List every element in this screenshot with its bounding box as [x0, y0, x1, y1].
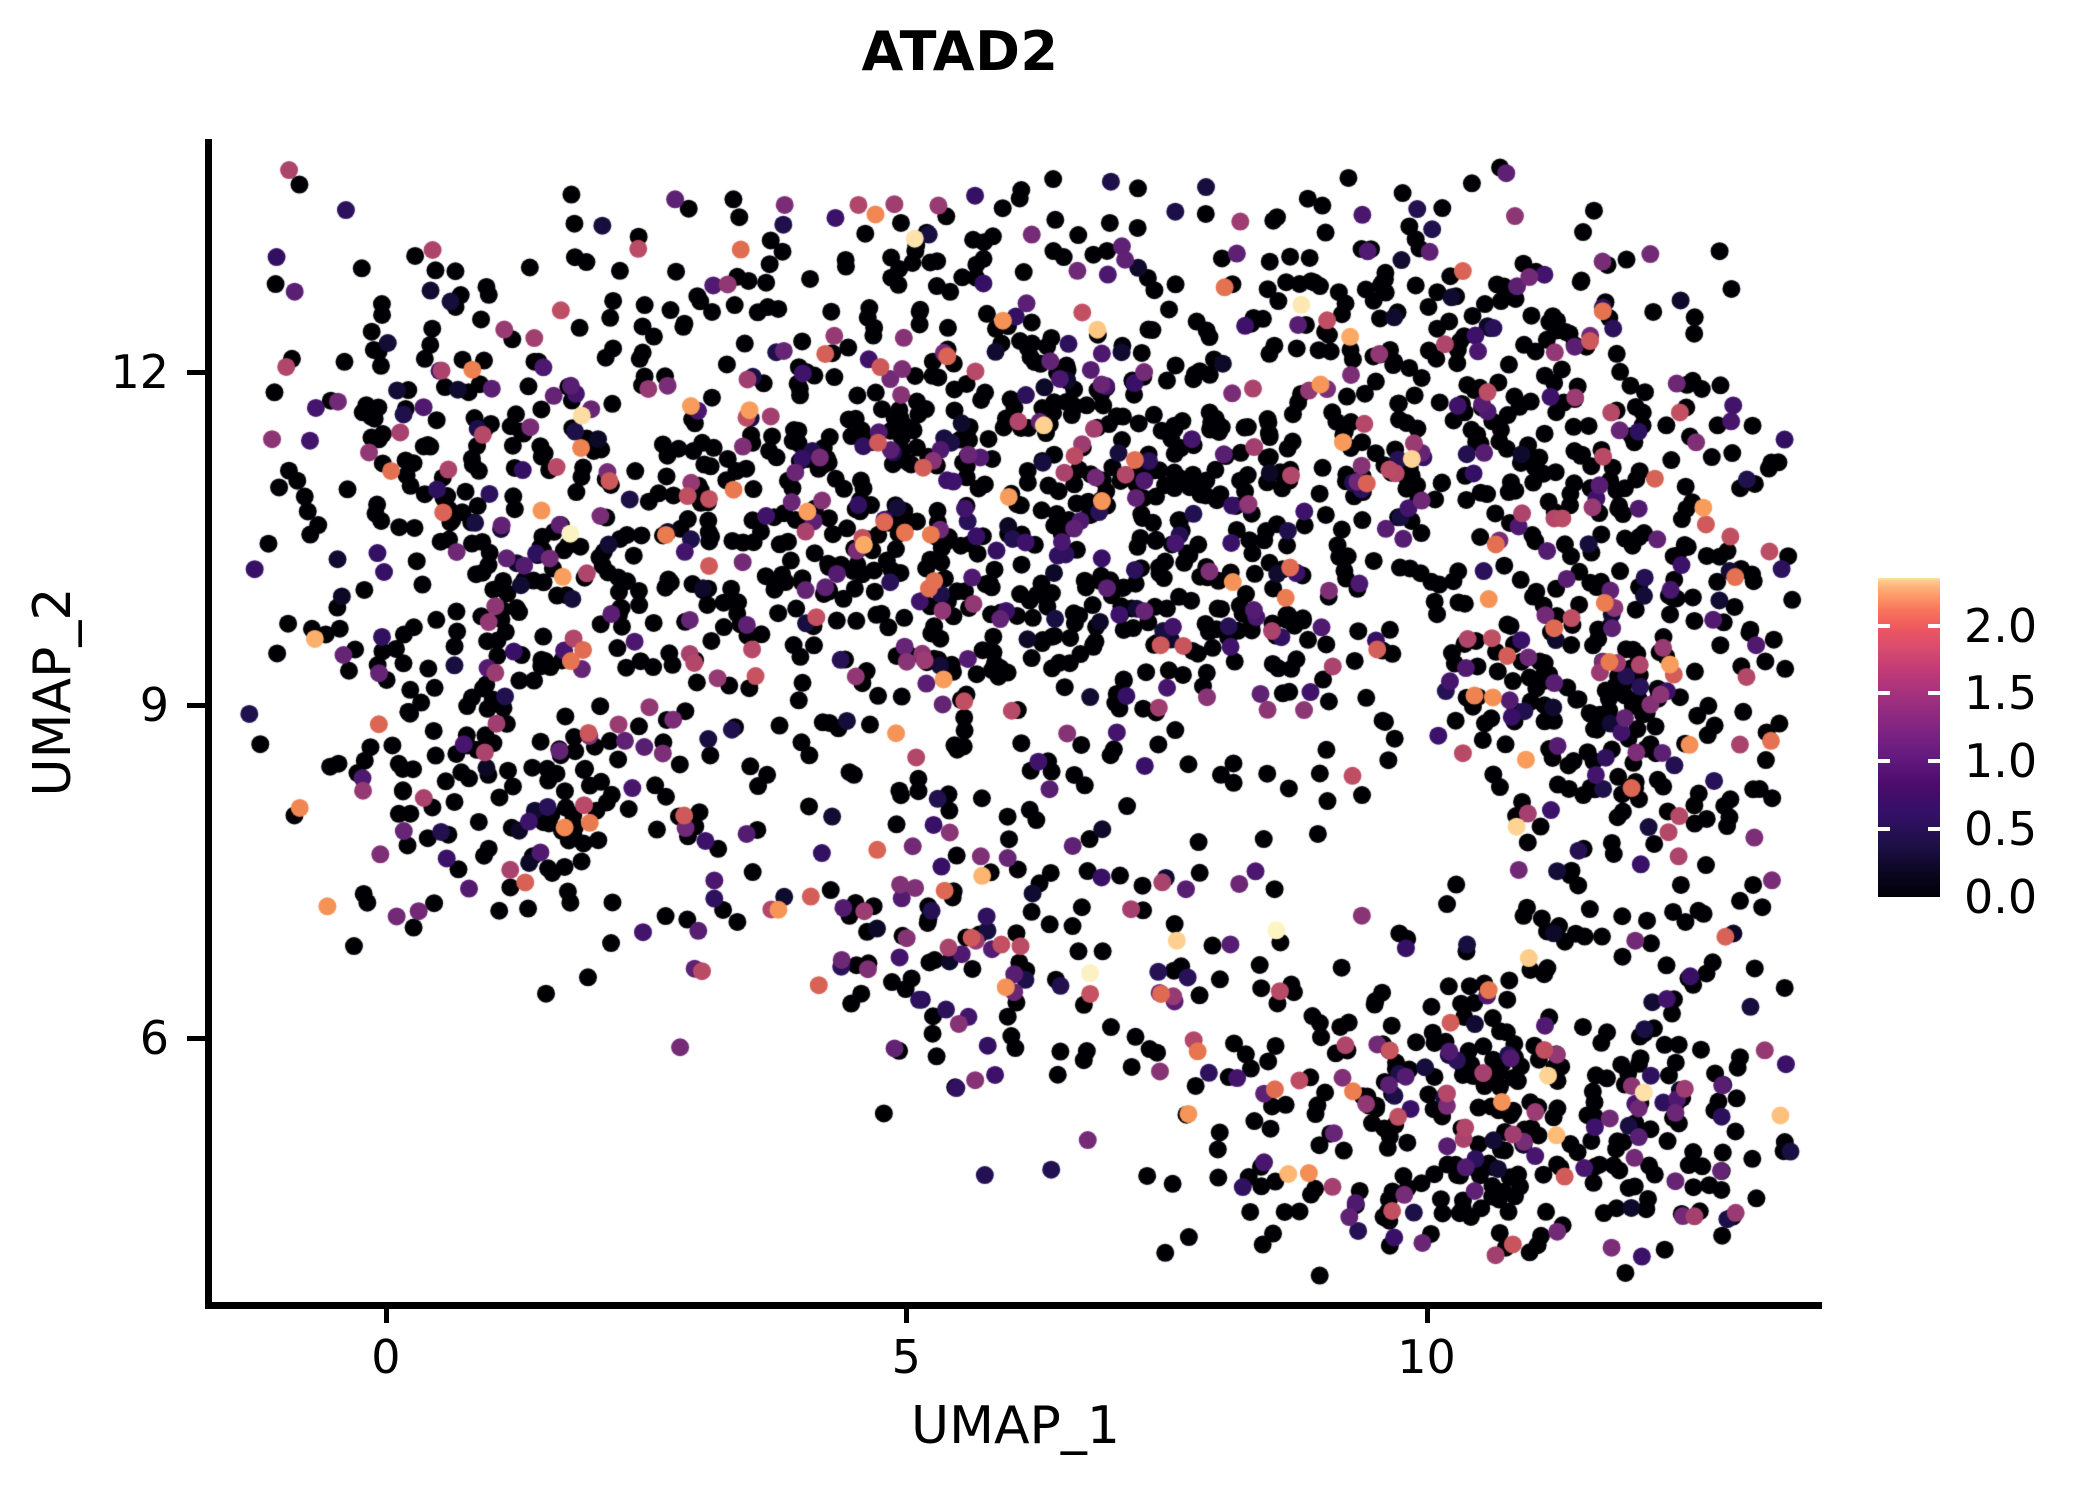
- x-tick-label: 10: [1357, 1329, 1497, 1385]
- x-tick-label: 0: [316, 1329, 456, 1385]
- x-tick-mark: [904, 1305, 909, 1323]
- colorbar-tick-label: 2.0: [1964, 600, 2037, 652]
- colorbar-tick-mark: [1878, 759, 1890, 763]
- plot-axes: 0510 6912: [209, 139, 1822, 1305]
- colorbar-tick-mark: [1928, 624, 1940, 628]
- colorbar: 0.00.51.01.52.0: [1878, 578, 2098, 898]
- y-axis-label: UMAP_2: [22, 342, 84, 1042]
- x-axis-spine: [205, 1302, 1822, 1309]
- x-tick-mark: [384, 1305, 389, 1323]
- x-tick-mark: [1425, 1305, 1430, 1323]
- colorbar-tick-mark: [1928, 691, 1940, 695]
- y-axis-spine: [205, 139, 212, 1305]
- y-tick-mark: [187, 703, 205, 708]
- colorbar-tick-label: 0.0: [1964, 871, 2037, 923]
- y-tick-mark: [187, 370, 205, 375]
- page-title: ATAD2: [0, 22, 2010, 82]
- y-tick-mark: [187, 1036, 205, 1041]
- colorbar-tick-mark: [1878, 691, 1890, 695]
- colorbar-tick-label: 1.5: [1964, 667, 2037, 719]
- colorbar-tick-mark: [1878, 624, 1890, 628]
- colorbar-tick-label: 0.5: [1964, 803, 2037, 855]
- colorbar-tick-label: 1.0: [1964, 735, 2037, 787]
- colorbar-tick-mark: [1878, 827, 1890, 831]
- figure-canvas: ATAD2 0510 6912 UMAP_1 UMAP_2 0.00.51.01…: [0, 0, 2100, 1500]
- colorbar-tick-mark: [1928, 759, 1940, 763]
- scatter-points-layer: [209, 139, 1822, 1305]
- x-tick-label: 5: [836, 1329, 976, 1385]
- x-axis-label: UMAP_1: [209, 1395, 1822, 1457]
- colorbar-tick-mark: [1928, 827, 1940, 831]
